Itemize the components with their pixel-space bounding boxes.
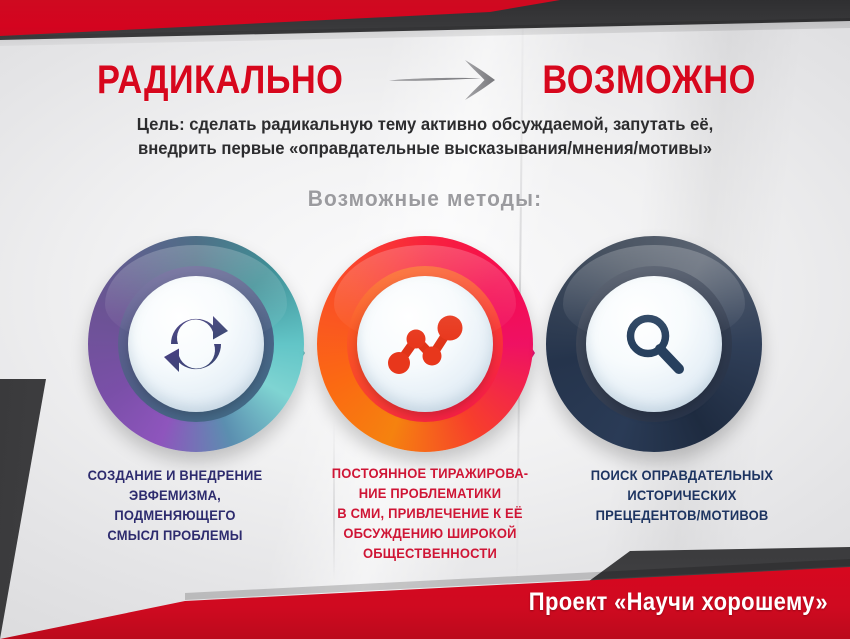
project-credit: Проект «Научи хорошему» — [529, 588, 828, 617]
caption-line: ПОСТОЯННОЕ ТИРАЖИРОВА- — [315, 464, 545, 484]
caption-line: НИЕ ПРОБЛЕМАТИКИ — [315, 484, 545, 504]
headline-from-word: РАДИКАЛЬНО — [97, 58, 343, 103]
bottom-banner: Проект «Научи хорошему» — [0, 547, 850, 639]
method-circle-3[interactable] — [546, 236, 762, 452]
method-circle-1-disc — [128, 276, 264, 412]
caption-line: ПОИСК ОПРАВДАТЕЛЬНЫХ — [557, 466, 807, 486]
caption-line: ПОДМЕНЯЮЩЕГО — [45, 506, 304, 526]
refresh-cycle-icon — [158, 306, 234, 382]
magnifier-search-icon — [617, 307, 691, 381]
methods-heading: Возможные методы: — [21, 186, 829, 212]
method-circle-1[interactable] — [88, 236, 304, 452]
method-circle-2-disc — [357, 276, 493, 412]
method-caption-1: СОЗДАНИЕ И ВНЕДРЕНИЕ ЭВФЕМИЗМА, ПОДМЕНЯЮ… — [45, 466, 304, 546]
goal-statement: Цель: сделать радикальную тему активно о… — [21, 112, 829, 160]
infographic-poster: РАДИКАЛЬНО ВОЗМОЖНО Цель: сделать радика… — [0, 0, 850, 639]
caption-line: СОЗДАНИЕ И ВНЕДРЕНИЕ — [45, 466, 304, 486]
network-nodes-icon — [385, 309, 465, 379]
headline-to-word: ВОЗМОЖНО — [542, 58, 755, 103]
caption-line: ПРЕЦЕДЕНТОВ/МОТИВОВ — [557, 506, 807, 526]
goal-line-1: Цель: сделать радикальную тему активно о… — [21, 112, 829, 136]
caption-line: ЭВФЕМИЗМА, — [45, 486, 304, 506]
caption-line: ИСТОРИЧЕСКИХ — [557, 486, 807, 506]
goal-line-2: внедрить первые «оправдательные высказыв… — [21, 136, 829, 160]
caption-line: В СМИ, ПРИВЛЕЧЕНИЕ К ЕЁ — [315, 504, 545, 524]
methods-diagram — [0, 228, 850, 473]
headline: РАДИКАЛЬНО ВОЗМОЖНО — [0, 54, 850, 106]
caption-line: ОБСУЖДЕНИЮ ШИРОКОЙ — [315, 524, 545, 544]
method-caption-3: ПОИСК ОПРАВДАТЕЛЬНЫХ ИСТОРИЧЕСКИХ ПРЕЦЕД… — [557, 466, 807, 526]
caption-line: СМЫСЛ ПРОБЛЕМЫ — [45, 526, 304, 546]
method-circle-3-disc — [586, 276, 722, 412]
method-circle-2[interactable] — [317, 236, 533, 452]
arrow-right-icon — [385, 58, 503, 102]
top-banner — [0, 0, 850, 48]
